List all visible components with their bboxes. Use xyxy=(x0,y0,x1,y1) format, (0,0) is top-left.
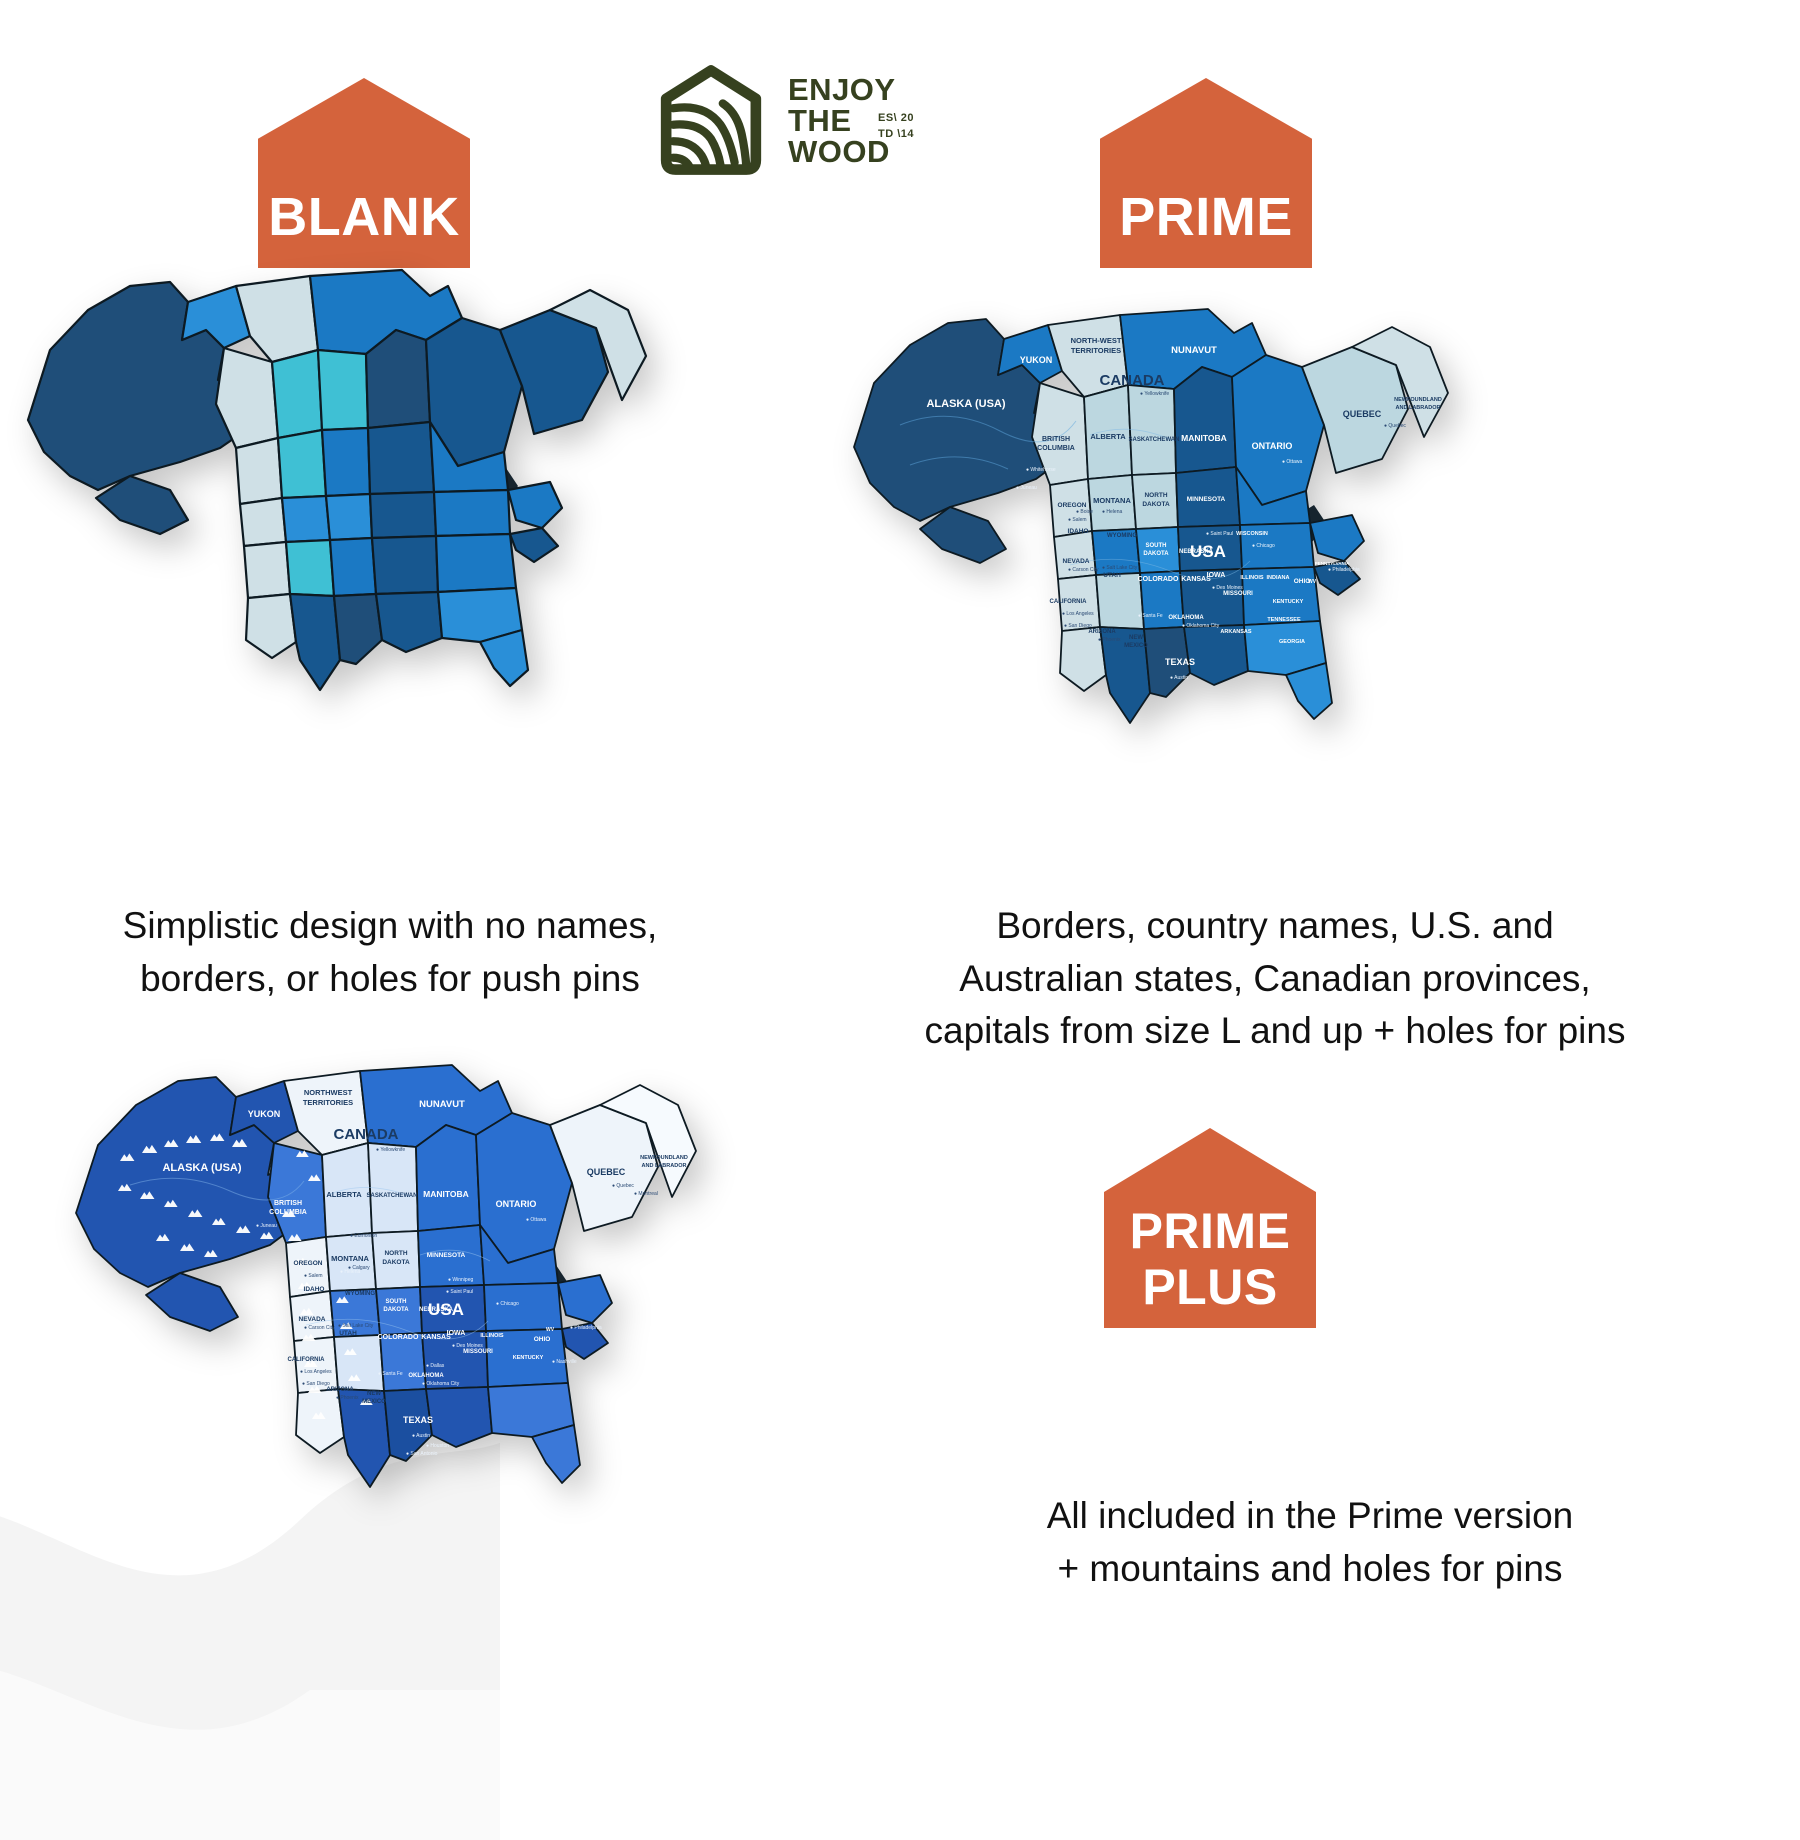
map-label-british-columbia-2: COLUMBIA xyxy=(1037,445,1075,452)
map-city-saint-paul: ● Saint Paul xyxy=(446,1289,473,1295)
map-label-texas: TEXAS xyxy=(403,1415,433,1425)
map-city-philadelphia: ● Philadelphia xyxy=(570,1325,602,1331)
map-label-alaska: ALASKA (USA) xyxy=(926,398,1005,410)
map-label-ontario: ONTARIO xyxy=(1252,441,1293,451)
map-label-saskatchewan: SASKATCHEWAN xyxy=(367,1193,418,1199)
map-label-minnesota: MINNESOTA xyxy=(427,1252,466,1259)
map-prime-artwork: ALASKA (USA) YUKON NORTH-WEST TERRITORIE… xyxy=(840,235,1540,795)
map-label-yukon: YUKON xyxy=(248,1109,281,1119)
caption-prime-line-3: capitals from size L and up + holes for … xyxy=(760,1005,1790,1058)
map-city-oklahoma-city: ● Oklahoma City xyxy=(422,1381,460,1387)
map-city-saint-paul: ● Saint Paul xyxy=(1206,531,1233,537)
map-label-georgia: GEORGIA xyxy=(1279,639,1305,645)
map-label-illinois: ILLINOIS xyxy=(1240,575,1264,581)
map-city-des-moines: ● Des Moines xyxy=(452,1343,483,1349)
map-city-austin: ● Austin xyxy=(1170,675,1188,681)
map-label-ohio: OHIO xyxy=(534,1336,551,1343)
map-label-yukon: YUKON xyxy=(1020,355,1053,365)
map-label-arizona: ARIZONA xyxy=(326,1387,354,1393)
map-label-alaska: ALASKA (USA) xyxy=(162,1162,241,1174)
map-city-los-angeles: ● Los Angeles xyxy=(300,1369,332,1375)
map-label-wv: WV xyxy=(546,1327,555,1333)
map-city-montreal: ● Montreal xyxy=(634,1191,658,1197)
map-label-north-dakota-2: DAKOTA xyxy=(1142,501,1170,508)
map-city-san-antonio: ● San Antonio xyxy=(406,1451,438,1457)
map-city-des-moines: ● Des Moines xyxy=(1212,585,1243,591)
map-label-british-columbia-1: BRITISH xyxy=(274,1200,302,1207)
map-city-carson-city: ● Carson City xyxy=(304,1325,335,1331)
caption-blank-line-1: Simplistic design with no names, xyxy=(20,900,760,953)
badge-prime-plus-label-2: PLUS xyxy=(1104,1262,1316,1328)
map-label-oregon: OREGON xyxy=(294,1260,323,1267)
map-prime-plus: ALASKA (USA) YUKON NORTHWEST TERRITORIES… xyxy=(60,985,820,1585)
map-label-canada: CANADA xyxy=(334,1126,399,1143)
map-label-quebec: QUEBEC xyxy=(587,1167,626,1177)
badge-prime-plus: PRIME PLUS xyxy=(1104,1128,1316,1328)
map-label-northwest-territories-1: NORTHWEST xyxy=(304,1088,353,1097)
map-label-newfoundland-2: AND LABRADOR xyxy=(642,1163,687,1169)
map-city-chicago: ● Chicago xyxy=(496,1301,519,1307)
map-label-northwest-territories-2: TERRITORIES xyxy=(1071,346,1121,355)
map-city-houston: ● Houston xyxy=(426,1443,449,1449)
brand-logo: ENJOY THE WOOD ES\ 20 TD \14 xyxy=(650,55,940,185)
map-city-los-angeles: ● Los Angeles xyxy=(1062,611,1094,617)
map-label-pennsylvania: PENNSYLVANIA xyxy=(1315,561,1350,566)
map-label-nebraska: NEBRASKA xyxy=(419,1307,454,1313)
map-city-salem: ● Salem xyxy=(1068,517,1087,523)
brand-name-line-1: ENJOY xyxy=(788,74,896,105)
caption-prime-line-1: Borders, country names, U.S. and xyxy=(760,900,1790,953)
map-city-phoenix: ● Phoenix xyxy=(1098,637,1121,643)
map-label-wyoming: WYOMING xyxy=(1107,533,1137,539)
caption-blank: Simplistic design with no names, borders… xyxy=(20,900,760,1005)
map-label-north-dakota-1: NORTH xyxy=(384,1250,407,1257)
map-label-newfoundland-2: AND LABRADOR xyxy=(1396,405,1441,411)
map-city-carson-city: ● Carson City xyxy=(1068,567,1099,573)
map-blank xyxy=(10,190,690,790)
map-city-philadelphia: ● Philadelphia xyxy=(1328,567,1360,573)
map-label-california: CALIFORNIA xyxy=(1050,599,1088,605)
map-label-new-mexico-1: NEW xyxy=(367,1391,381,1397)
map-city-oklahoma-city: ● Oklahoma City xyxy=(1182,623,1220,629)
map-label-tennessee: TENNESSEE xyxy=(1267,617,1301,623)
map-city-whitehorse: ● Whitehorse xyxy=(1026,467,1056,473)
map-label-arkansas: ARKANSAS xyxy=(1220,629,1252,635)
caption-prime-line-2: Australian states, Canadian provinces, xyxy=(760,953,1790,1006)
map-label-nebraska: NEBRASKA xyxy=(1179,549,1214,555)
map-label-nevada: NEVADA xyxy=(299,1316,326,1323)
caption-blank-line-2: borders, or holes for push pins xyxy=(20,953,760,1006)
map-label-saskatchewan: SASKATCHEWAN xyxy=(1129,437,1180,443)
map-label-quebec: QUEBEC xyxy=(1343,409,1382,419)
map-label-wisconsin: WISCONSIN xyxy=(1236,531,1268,537)
map-label-illinois: ILLINOIS xyxy=(480,1333,504,1339)
map-label-kentucky: KENTUCKY xyxy=(1273,599,1304,605)
map-label-wv: WV xyxy=(1308,579,1317,585)
map-label-oklahoma: OKLAHOMA xyxy=(408,1373,444,1379)
map-city-salt-lake-city: ● Salt Lake City xyxy=(338,1323,374,1329)
established-mark: ES\ 20 TD \14 xyxy=(878,111,914,143)
map-label-oklahoma: OKLAHOMA xyxy=(1168,615,1204,621)
map-label-manitoba: MANITOBA xyxy=(1181,433,1227,443)
map-label-colorado: COLORADO xyxy=(1138,576,1179,583)
map-label-north-dakota-2: DAKOTA xyxy=(382,1259,410,1266)
map-city-dallas: ● Dallas xyxy=(426,1363,445,1369)
map-label-montana: MONTANA xyxy=(1093,496,1131,505)
map-label-idaho: IDAHO xyxy=(304,1286,325,1293)
map-label-nunavut: NUNAVUT xyxy=(419,1099,465,1110)
map-prime-plus-artwork: ALASKA (USA) YUKON NORTHWEST TERRITORIES… xyxy=(60,985,820,1585)
map-label-new-mexico-2: MEXICO xyxy=(362,1399,386,1405)
map-label-idaho: IDAHO xyxy=(1068,528,1089,535)
caption-prime: Borders, country names, U.S. and Austral… xyxy=(760,900,1790,1058)
map-label-kansas: KANSAS xyxy=(1181,576,1211,583)
map-city-helena: ● Helena xyxy=(340,1269,360,1275)
map-label-nevada: NEVADA xyxy=(1063,558,1090,565)
map-label-manitoba: MANITOBA xyxy=(423,1189,469,1199)
map-city-juneau: ● Juneau xyxy=(256,1223,277,1229)
map-city-salt-lake-city: ● Salt Lake City xyxy=(1102,565,1138,571)
map-city-quebec: ● Quebec xyxy=(612,1183,634,1189)
map-city-chicago: ● Chicago xyxy=(1252,543,1275,549)
map-label-nunavut: NUNAVUT xyxy=(1171,345,1217,356)
map-label-north-dakota-1: NORTH xyxy=(1144,492,1167,499)
map-city-phoenix: ● Phoenix xyxy=(336,1395,359,1401)
map-label-alberta: ALBERTA xyxy=(1090,432,1126,441)
map-prime: ALASKA (USA) YUKON NORTH-WEST TERRITORIE… xyxy=(840,235,1540,795)
map-label-british-columbia-1: BRITISH xyxy=(1042,436,1070,443)
caption-prime-plus: All included in the Prime version + moun… xyxy=(840,1490,1780,1595)
map-label-canada: CANADA xyxy=(1100,372,1165,389)
map-label-oregon: OREGON xyxy=(1058,502,1087,509)
map-label-british-columbia-2: COLUMBIA xyxy=(269,1209,307,1216)
map-label-new-mexico-1: NEW xyxy=(1129,635,1143,641)
map-label-south-dakota-1: SOUTH xyxy=(386,1299,407,1305)
map-city-yellowknife: ● Yellowknife xyxy=(376,1147,405,1153)
map-label-missouri: MISSOURI xyxy=(1223,591,1253,597)
map-label-newfoundland-1: NEWFOUNDLAND xyxy=(640,1155,688,1161)
map-city-nashville: ● Nashville xyxy=(552,1359,577,1365)
map-city-boise: ● Boise xyxy=(1076,509,1093,515)
caption-prime-plus-line-1: All included in the Prime version xyxy=(840,1490,1780,1543)
map-label-colorado: COLORADO xyxy=(378,1334,419,1341)
map-city-helena: ● Helena xyxy=(1102,509,1122,515)
map-city-san-diego: ● San Diego xyxy=(302,1381,330,1387)
map-label-utah: UTAH xyxy=(339,1330,357,1337)
map-label-wyoming: WYOMING xyxy=(345,1291,375,1297)
map-label-northwest-territories-2: TERRITORIES xyxy=(303,1098,353,1107)
map-label-south-dakota-2: DAKOTA xyxy=(1143,551,1169,557)
map-city-austin: ● Austin xyxy=(412,1433,430,1439)
map-city-yellowknife: ● Yellowknife xyxy=(1140,391,1169,397)
map-label-new-mexico-2: MEXICO xyxy=(1124,643,1148,649)
map-city-edmonton: ● Edmonton xyxy=(350,1233,377,1239)
map-label-newfoundland-1: NEWFOUNDLAND xyxy=(1394,397,1442,403)
caption-prime-plus-line-2: + mountains and holes for pins xyxy=(840,1543,1780,1596)
map-label-alberta: ALBERTA xyxy=(326,1190,362,1199)
map-city-juneau: ● Juneau xyxy=(1016,485,1037,491)
map-label-missouri: MISSOURI xyxy=(463,1349,493,1355)
map-label-kentucky: KENTUCKY xyxy=(513,1355,544,1361)
map-city-salem: ● Salem xyxy=(304,1273,323,1279)
map-label-kansas: KANSAS xyxy=(421,1334,451,1341)
map-city-san-diego: ● San Diego xyxy=(1064,623,1092,629)
map-label-arizona: ARIZONA xyxy=(1088,629,1116,635)
enjoy-the-wood-house-logo-icon xyxy=(650,61,772,179)
map-label-utah: UTAH xyxy=(1103,572,1121,579)
map-city-ottawa: ● Ottawa xyxy=(526,1217,546,1223)
map-label-ontario: ONTARIO xyxy=(496,1199,537,1209)
map-label-south-dakota-1: SOUTH xyxy=(1146,543,1167,549)
map-blank-artwork xyxy=(10,190,690,790)
map-label-texas: TEXAS xyxy=(1165,657,1195,667)
map-city-santa-fe: ● Santa Fe xyxy=(1138,613,1163,619)
map-label-minnesota: MINNESOTA xyxy=(1187,496,1226,503)
map-city-quebec: ● Quebec xyxy=(1384,423,1406,429)
map-label-northwest-territories-1: NORTH-WEST xyxy=(1071,336,1122,345)
map-label-indiana: INDIANA xyxy=(1267,575,1290,581)
map-label-montana: MONTANA xyxy=(331,1254,369,1263)
map-city-winnipeg: ● Winnipeg xyxy=(448,1277,473,1283)
map-city-santa-fe: ● Santa Fe xyxy=(378,1371,403,1377)
badge-prime-plus-label-1: PRIME xyxy=(1104,1206,1316,1262)
map-label-california: CALIFORNIA xyxy=(288,1357,326,1363)
map-label-south-dakota-2: DAKOTA xyxy=(383,1307,409,1313)
map-city-ottawa: ● Ottawa xyxy=(1282,459,1302,465)
